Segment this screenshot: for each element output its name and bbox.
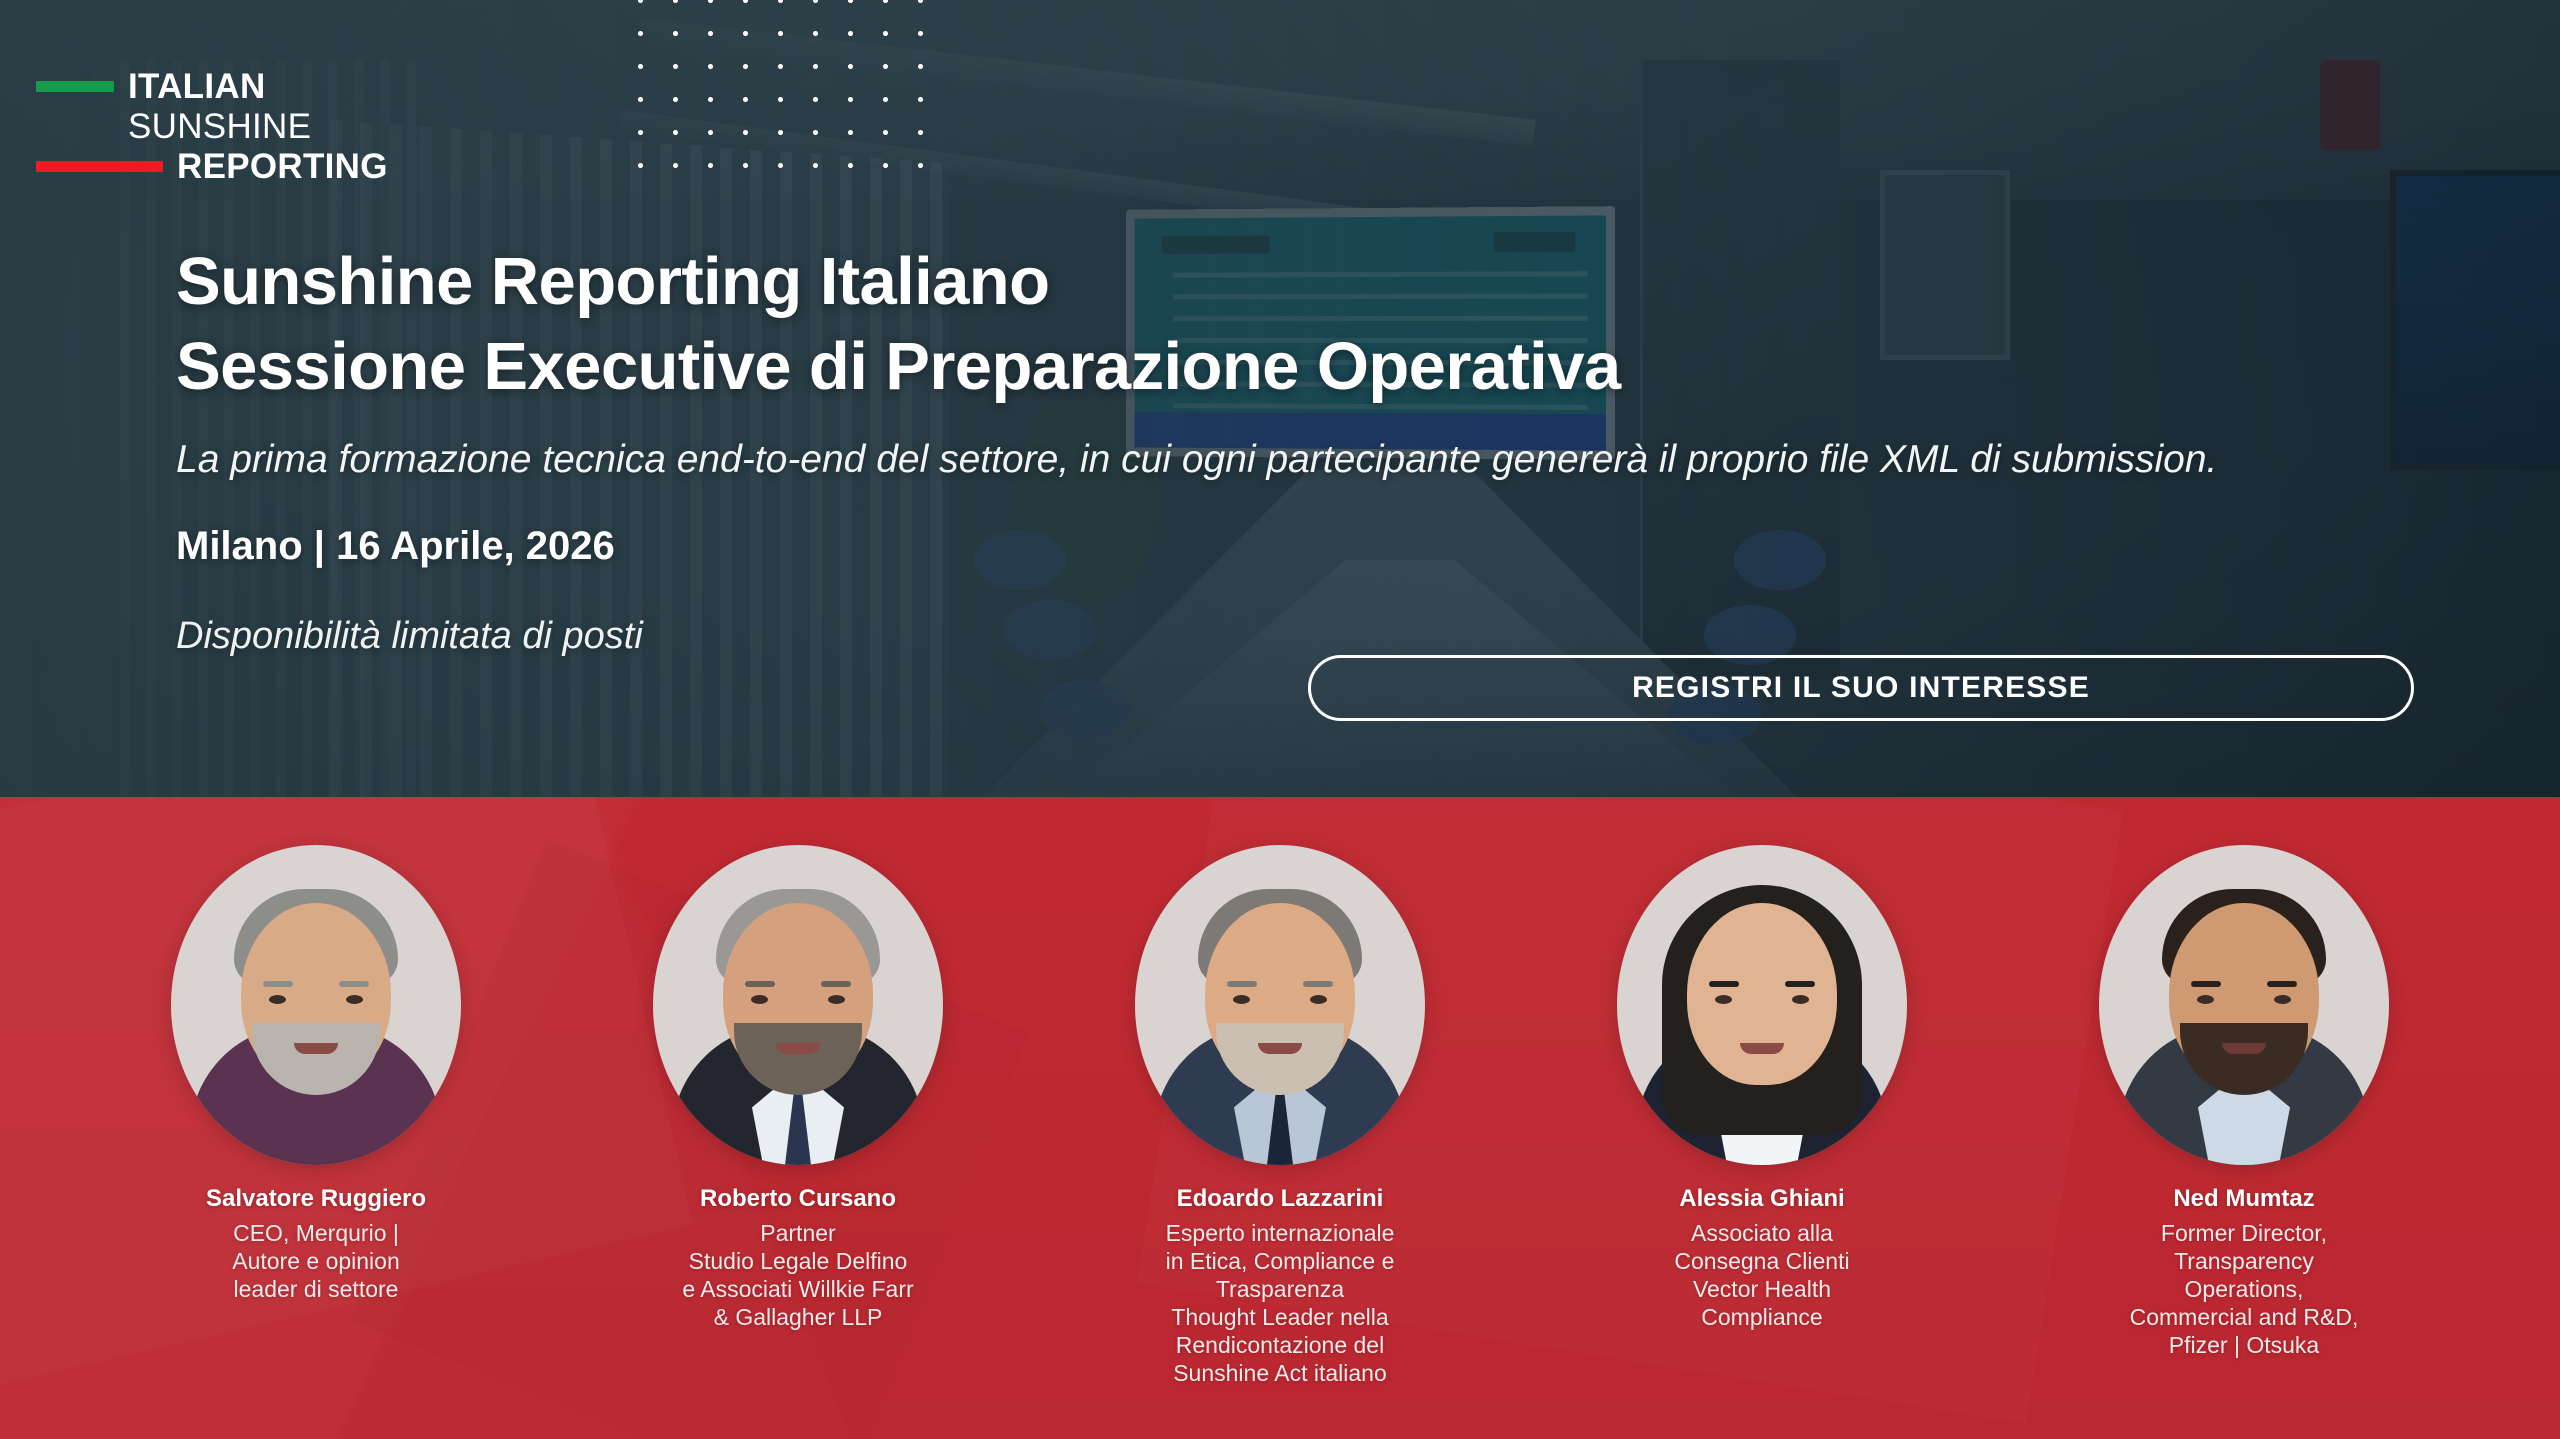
avatar-brow-right xyxy=(1303,981,1333,987)
hero-copy: Sunshine Reporting Italiano Sessione Exe… xyxy=(176,248,2416,658)
logo-row-sunshine: SUNSHINE xyxy=(18,106,438,146)
avatar-eye-left xyxy=(269,995,286,1004)
page-title: Sunshine Reporting Italiano Sessione Exe… xyxy=(176,248,2416,400)
speaker-card[interactable]: Ned Mumtaz Former Director, Transparency… xyxy=(2048,845,2440,1359)
brand-logo[interactable]: ITALIAN SUNSHINE REPORTING xyxy=(18,66,438,196)
avatar xyxy=(653,845,943,1165)
speakers-section: Salvatore Ruggiero CEO, Merqurio | Autor… xyxy=(0,797,2560,1439)
avatar-eye-right xyxy=(1310,995,1327,1004)
avatar-brow-left xyxy=(1227,981,1257,987)
avatar-eye-right xyxy=(828,995,845,1004)
promo-banner: ITALIAN SUNSHINE REPORTING Sunshine Repo… xyxy=(0,0,2560,1439)
avatar-eye-right xyxy=(2274,995,2291,1004)
speaker-list: Salvatore Ruggiero CEO, Merqurio | Autor… xyxy=(0,797,2560,1439)
logo-text-sunshine: SUNSHINE xyxy=(128,109,311,144)
avatar-mouth xyxy=(294,1043,338,1054)
avatar-brow-right xyxy=(1785,981,1815,987)
logo-row-reporting: REPORTING xyxy=(18,146,438,186)
hero-subtitle: La prima formazione tecnica end-to-end d… xyxy=(176,434,2326,486)
speaker-card[interactable]: Salvatore Ruggiero CEO, Merqurio | Autor… xyxy=(120,845,512,1303)
speaker-name: Edoardo Lazzarini xyxy=(1177,1185,1384,1213)
avatar-eye-right xyxy=(1792,995,1809,1004)
title-line-1: Sunshine Reporting Italiano xyxy=(176,244,1049,319)
avatar-eye-left xyxy=(1233,995,1250,1004)
avatar-eye-left xyxy=(751,995,768,1004)
logo-text-reporting: REPORTING xyxy=(177,149,388,184)
avatar xyxy=(171,845,461,1165)
speaker-role: Associato alla Consegna Clienti Vector H… xyxy=(1674,1219,1849,1331)
avatar-mouth xyxy=(1740,1043,1784,1054)
avatar-eye-right xyxy=(346,995,363,1004)
avatar-mouth xyxy=(1258,1043,1302,1054)
speaker-role: CEO, Merqurio | Autore e opinion leader … xyxy=(232,1219,400,1303)
italian-flag-green-bar xyxy=(36,81,114,92)
avatar-brow-right xyxy=(821,981,851,987)
dot-grid-decoration xyxy=(623,0,943,174)
avatar xyxy=(2099,845,2389,1165)
avatar xyxy=(1135,845,1425,1165)
speaker-role: Former Director, Transparency Operations… xyxy=(2130,1219,2359,1359)
event-location-date: Milano | 16 Aprile, 2026 xyxy=(176,524,2416,569)
speaker-role: Partner Studio Legale Delfino e Associat… xyxy=(682,1219,913,1331)
avatar-mouth xyxy=(2222,1043,2266,1054)
speaker-name: Ned Mumtaz xyxy=(2173,1185,2314,1213)
avatar-brow-right xyxy=(339,981,369,987)
avatar-brow-right xyxy=(2267,981,2297,987)
hero-section: ITALIAN SUNSHINE REPORTING Sunshine Repo… xyxy=(0,0,2560,797)
limited-availability-note: Disponibilità limitata di posti xyxy=(176,615,2416,658)
speaker-card[interactable]: Alessia Ghiani Associato alla Consegna C… xyxy=(1566,845,1958,1331)
avatar-head xyxy=(1687,903,1837,1085)
title-line-2: Sessione Executive di Preparazione Opera… xyxy=(176,333,2416,400)
avatar-mouth xyxy=(776,1043,820,1054)
speaker-card[interactable]: Edoardo Lazzarini Esperto internazionale… xyxy=(1084,845,1476,1387)
speaker-name: Alessia Ghiani xyxy=(1679,1185,1844,1213)
register-interest-button[interactable]: REGISTRI IL SUO INTERESSE xyxy=(1308,655,2414,721)
avatar-brow-left xyxy=(263,981,293,987)
italian-flag-red-bar xyxy=(36,161,163,172)
avatar-eye-left xyxy=(2197,995,2214,1004)
avatar-brow-left xyxy=(2191,981,2221,987)
avatar-brow-left xyxy=(1709,981,1739,987)
avatar xyxy=(1617,845,1907,1165)
avatar-brow-left xyxy=(745,981,775,987)
avatar-eye-left xyxy=(1715,995,1732,1004)
logo-row-italian: ITALIAN xyxy=(18,66,438,106)
speaker-name: Salvatore Ruggiero xyxy=(206,1185,426,1213)
logo-text-italian: ITALIAN xyxy=(128,69,266,104)
speaker-card[interactable]: Roberto Cursano Partner Studio Legale De… xyxy=(602,845,994,1331)
speaker-name: Roberto Cursano xyxy=(700,1185,896,1213)
speaker-role: Esperto internazionale in Etica, Complia… xyxy=(1166,1219,1395,1387)
